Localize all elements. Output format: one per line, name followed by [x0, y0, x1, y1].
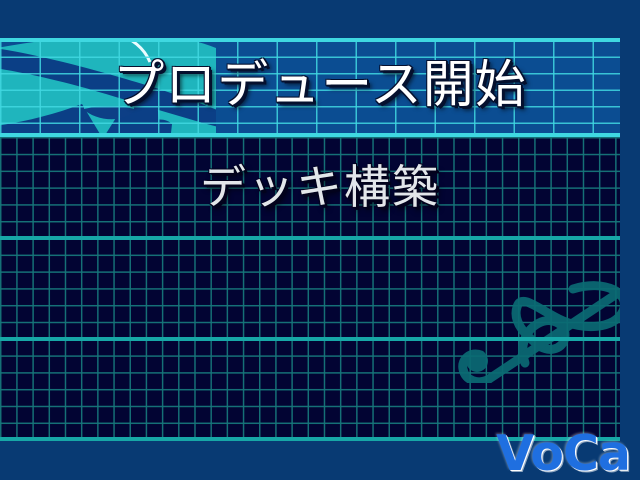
- treble-clef-icon: [455, 273, 620, 383]
- page-title: プロデュース開始: [0, 57, 640, 115]
- page-subtitle: デッキ構築: [0, 160, 640, 214]
- banner-bottom-rule: [0, 133, 620, 137]
- app-screen: プロデュース開始 デッキ構築 VoCa: [0, 0, 640, 480]
- staff-rule-1: [0, 236, 620, 240]
- banner-top-rule: [0, 38, 620, 42]
- brand-logo: VoCa: [496, 429, 630, 478]
- staff-rule-2: [0, 337, 620, 341]
